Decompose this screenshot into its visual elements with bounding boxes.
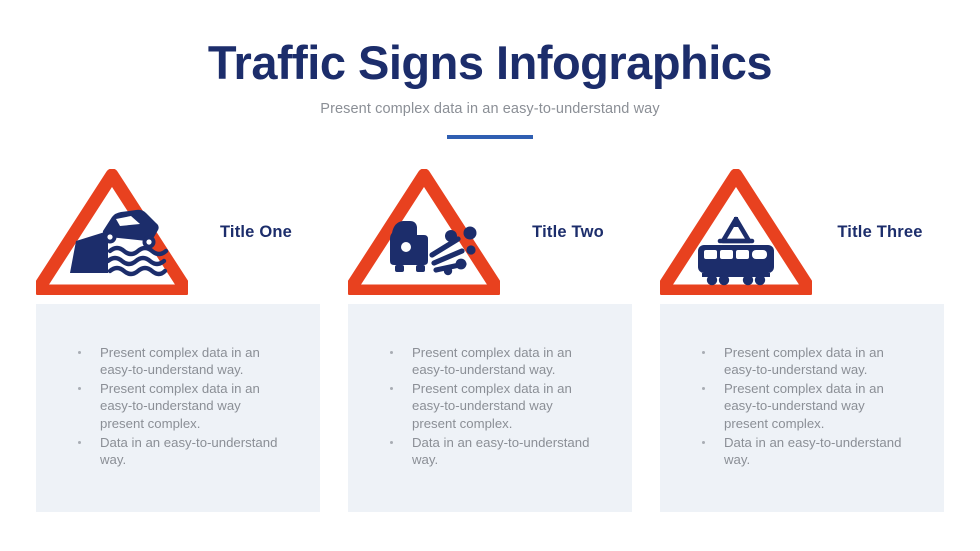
traffic-sign-loose-chippings-icon — [348, 169, 500, 295]
slide-header: Traffic Signs Infographics Present compl… — [0, 38, 980, 139]
column-two: Title Two Present complex data in an eas… — [348, 160, 632, 512]
sign-row-one: Title One — [36, 160, 320, 304]
column-one-title: Title One — [188, 223, 320, 242]
sign-row-two: Title Two — [348, 160, 632, 304]
column-two-title: Title Two — [500, 223, 632, 242]
bullet-text: Present complex data in an easy-to-under… — [412, 345, 572, 377]
column-two-bullet-list: Present complex data in an easy-to-under… — [382, 344, 598, 470]
bullet-text: Data in an easy-to-understand way. — [724, 435, 901, 467]
column-three: Title Three Present complex data in an e… — [660, 160, 944, 512]
bullet-text: Data in an easy-to-understand way. — [412, 435, 589, 467]
list-item: Data in an easy-to-understand way. — [382, 434, 598, 468]
list-item: Present complex data in an easy-to-under… — [70, 344, 286, 378]
traffic-sign-tram-crossing-icon — [660, 169, 812, 295]
list-item: Present complex data in an easy-to-under… — [382, 344, 598, 378]
column-three-bullet-list: Present complex data in an easy-to-under… — [694, 344, 910, 470]
bullet-text: Data in an easy-to-understand way. — [100, 435, 277, 467]
column-one-bullet-list: Present complex data in an easy-to-under… — [70, 344, 286, 470]
bullet-dot-icon — [78, 387, 81, 390]
column-three-title: Title Three — [812, 223, 944, 242]
bullet-text: Present complex data in an easy-to-under… — [412, 381, 572, 430]
list-item: Present complex data in an easy-to-under… — [694, 344, 910, 378]
bullet-text: Present complex data in an easy-to-under… — [100, 381, 260, 430]
bullet-dot-icon — [390, 351, 393, 354]
column-one: Title One Present complex data in an eas… — [36, 160, 320, 512]
list-item: Present complex data in an easy-to-under… — [694, 380, 910, 431]
list-item: Data in an easy-to-understand way. — [70, 434, 286, 468]
column-three-panel: Present complex data in an easy-to-under… — [660, 304, 944, 512]
accent-divider — [447, 135, 533, 139]
column-two-panel: Present complex data in an easy-to-under… — [348, 304, 632, 512]
infographic-slide: Traffic Signs Infographics Present compl… — [0, 0, 980, 551]
bullet-text: Present complex data in an easy-to-under… — [724, 381, 884, 430]
list-item: Present complex data in an easy-to-under… — [70, 380, 286, 431]
bullet-dot-icon — [78, 441, 81, 444]
columns-container: Title One Present complex data in an eas… — [0, 160, 980, 512]
page-title: Traffic Signs Infographics — [0, 38, 980, 87]
traffic-sign-quayside-riverbank-icon — [36, 169, 188, 295]
bullet-dot-icon — [702, 387, 705, 390]
bullet-dot-icon — [702, 351, 705, 354]
bullet-dot-icon — [702, 441, 705, 444]
list-item: Data in an easy-to-understand way. — [694, 434, 910, 468]
list-item: Present complex data in an easy-to-under… — [382, 380, 598, 431]
bullet-text: Present complex data in an easy-to-under… — [100, 345, 260, 377]
bullet-text: Present complex data in an easy-to-under… — [724, 345, 884, 377]
bullet-dot-icon — [78, 351, 81, 354]
bullet-dot-icon — [390, 441, 393, 444]
bullet-dot-icon — [390, 387, 393, 390]
column-one-panel: Present complex data in an easy-to-under… — [36, 304, 320, 512]
page-subtitle: Present complex data in an easy-to-under… — [0, 101, 980, 117]
sign-row-three: Title Three — [660, 160, 944, 304]
